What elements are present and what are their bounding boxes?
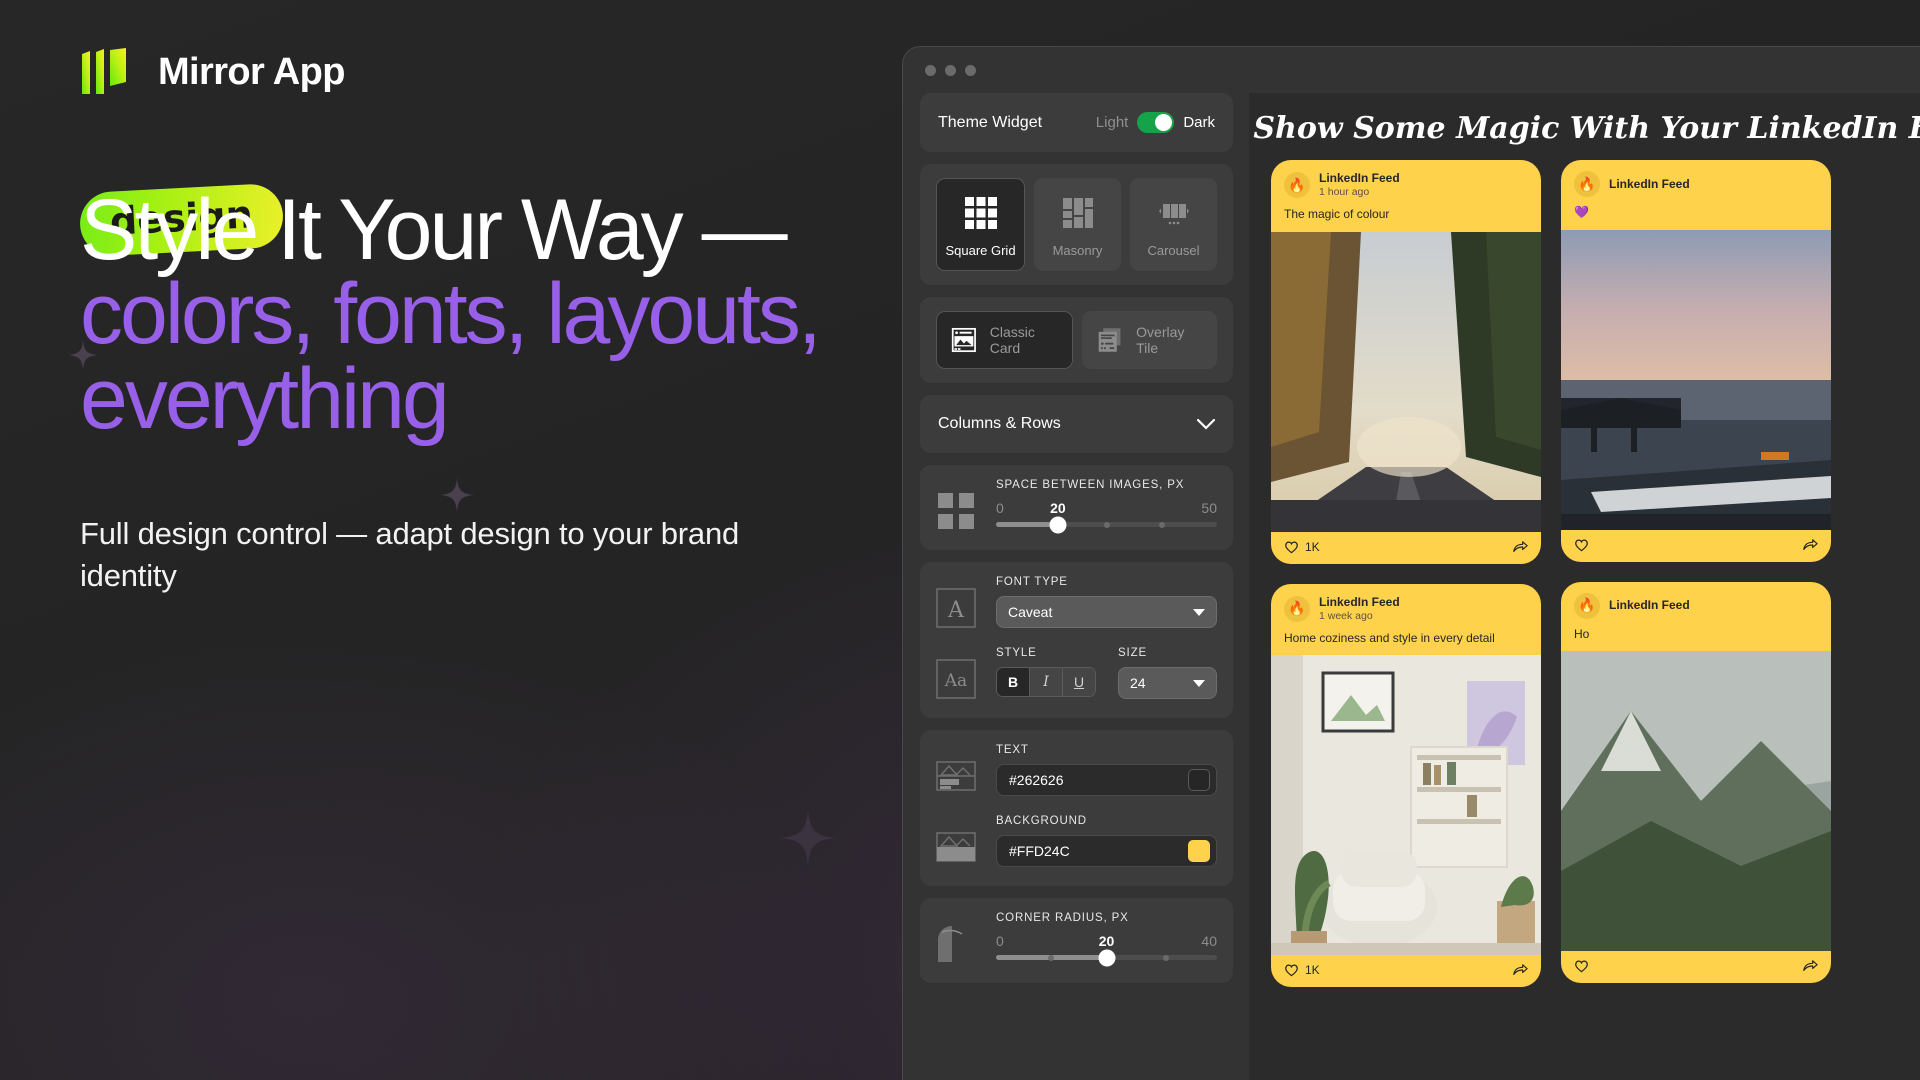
font-size-label: Size <box>1118 647 1217 659</box>
theme-toggle[interactable]: Light Dark <box>1096 112 1215 133</box>
spacing-slider[interactable] <box>996 522 1217 527</box>
text-color-field[interactable]: #262626 <box>996 764 1217 796</box>
post-source: LinkedIn Feed <box>1609 177 1690 192</box>
post-image-sunset-pier-sea <box>1561 230 1831 530</box>
carousel-icon <box>1154 193 1194 233</box>
layout-option-label: Square Grid <box>945 243 1015 258</box>
post-image-autumn-forest-road <box>1271 232 1541 532</box>
layout-option-carousel[interactable]: Carousel <box>1130 178 1217 271</box>
corner-radius-slider[interactable] <box>996 955 1217 960</box>
corner-radius-min: 0 <box>996 933 1004 949</box>
post-header: 🔥 LinkedIn Feed Ho <box>1561 582 1831 652</box>
text-color-swatch[interactable] <box>1188 769 1210 791</box>
post-likes[interactable] <box>1574 959 1595 973</box>
feed-post[interactable]: 🔥 LinkedIn Feed 💜 <box>1561 160 1831 562</box>
share-icon[interactable] <box>1512 963 1528 977</box>
font-style-label: Style <box>996 647 1096 659</box>
feed-preview: Show Some Magic With Your LinkedIn Feed … <box>1249 93 1920 1080</box>
font-type-label: Font Type <box>996 576 1217 588</box>
corner-radius-card: Corner radius, px 0 20 40 <box>920 898 1233 983</box>
font-size-select[interactable]: 24 <box>1118 667 1217 699</box>
serif-a-icon: A <box>936 576 980 633</box>
post-likes[interactable]: 1K <box>1284 540 1320 554</box>
chevron-down-icon <box>1193 609 1205 616</box>
post-header: 🔥 LinkedIn Feed 1 week ago Home coziness… <box>1271 584 1541 656</box>
spacing-tick <box>1159 522 1165 528</box>
post-footer: 1K <box>1271 955 1541 987</box>
post-footer <box>1561 951 1831 983</box>
sparkle-icon <box>780 810 836 866</box>
page-root: Mirror App design Style It Your Way — co… <box>0 0 1920 1080</box>
post-text: The magic of colour <box>1284 207 1528 223</box>
post-header: 🔥 LinkedIn Feed 💜 <box>1561 160 1831 230</box>
text-color-label: Text <box>996 744 1217 756</box>
corner-radius-icon <box>936 912 980 969</box>
spacing-grid-icon <box>936 479 980 536</box>
hero-subcopy: Full design control — adapt design to yo… <box>80 513 760 597</box>
font-control-card: A Font Type Caveat <box>920 562 1233 718</box>
post-time: 1 hour ago <box>1319 186 1400 199</box>
feed-grid: 🔥 LinkedIn Feed 1 hour ago The magic of … <box>1249 160 1920 987</box>
post-source: LinkedIn Feed <box>1319 595 1400 610</box>
feed-column: 🔥 LinkedIn Feed 1 hour ago The magic of … <box>1271 160 1541 987</box>
text-color-icon <box>936 744 980 801</box>
font-style-group[interactable]: B I U <box>996 667 1096 697</box>
heart-icon[interactable] <box>1284 540 1299 554</box>
post-text: Home coziness and style in every detail <box>1284 631 1528 647</box>
bold-button[interactable]: B <box>997 668 1030 696</box>
close-dot-icon[interactable] <box>925 65 936 76</box>
square-grid-icon <box>961 193 1001 233</box>
headline-line-1: Style It Your Way — <box>80 182 785 278</box>
background-color-swatch[interactable] <box>1188 840 1210 862</box>
font-size-value: 24 <box>1130 675 1146 691</box>
three-bars-logo-icon <box>80 48 136 96</box>
share-icon[interactable] <box>1802 959 1818 973</box>
columns-rows-accordion[interactable]: Columns & Rows <box>920 395 1233 453</box>
classic-card-icon <box>951 325 977 355</box>
theme-widget-card: Theme Widget Light Dark <box>920 93 1233 152</box>
chevron-down-icon <box>1193 680 1205 687</box>
background-color-value: #FFD24C <box>1009 843 1070 859</box>
post-footer <box>1561 530 1831 562</box>
brand-name: Mirror App <box>158 51 345 94</box>
theme-light-label[interactable]: Light <box>1096 114 1129 131</box>
post-likes[interactable]: 1K <box>1284 963 1320 977</box>
minimize-dot-icon[interactable] <box>945 65 956 76</box>
feed-post[interactable]: 🔥 LinkedIn Feed Ho <box>1561 582 1831 984</box>
window-titlebar <box>903 47 1920 93</box>
feed-post[interactable]: 🔥 LinkedIn Feed 1 week ago Home coziness… <box>1271 584 1541 988</box>
spacing-value: 20 <box>1050 500 1066 516</box>
post-source: LinkedIn Feed <box>1609 598 1690 613</box>
chevron-down-icon[interactable] <box>1197 419 1215 430</box>
window-body: Theme Widget Light Dark <box>903 93 1920 1080</box>
svg-text:Aa: Aa <box>944 671 967 691</box>
layout-option-label: Masonry <box>1053 243 1103 258</box>
card-style-label: Classic Card <box>990 324 1058 356</box>
spacing-control-card: Space between images, px 0 20 50 <box>920 465 1233 550</box>
corner-radius-label: Corner radius, px <box>996 912 1217 924</box>
background-color-field[interactable]: #FFD24C <box>996 835 1217 867</box>
flame-icon: 🔥 <box>1284 172 1310 198</box>
post-likes[interactable] <box>1574 538 1595 552</box>
italic-button[interactable]: I <box>1030 668 1063 696</box>
text-color-value: #262626 <box>1009 772 1064 788</box>
spacing-slider-thumb[interactable] <box>1049 516 1066 533</box>
headline-line-2: colors, fonts, layouts, <box>80 272 900 356</box>
corner-radius-tick <box>1048 955 1054 961</box>
background-color-label: Background <box>996 815 1217 827</box>
feed-column: 🔥 LinkedIn Feed 💜 <box>1561 160 1831 987</box>
masonry-icon <box>1058 193 1098 233</box>
corner-radius-value: 20 <box>1099 933 1115 949</box>
card-style-label: Overlay Tile <box>1136 324 1203 356</box>
post-header: 🔥 LinkedIn Feed 1 hour ago The magic of … <box>1271 160 1541 232</box>
spacing-label: Space between images, px <box>996 479 1217 491</box>
post-text: 💜 <box>1574 205 1818 221</box>
theme-dark-label[interactable]: Dark <box>1183 114 1215 131</box>
likes-count: 1K <box>1305 963 1320 977</box>
layout-option-masonry[interactable]: Masonry <box>1034 178 1121 271</box>
layout-option-label: Carousel <box>1147 243 1199 258</box>
flame-icon: 🔥 <box>1284 596 1310 622</box>
likes-count: 1K <box>1305 540 1320 554</box>
svg-text:A: A <box>947 598 965 623</box>
post-time: 1 week ago <box>1319 610 1400 623</box>
spacing-tick <box>1104 522 1110 528</box>
sparkle-icon <box>440 478 474 512</box>
maximize-dot-icon[interactable] <box>965 65 976 76</box>
flame-icon: 🔥 <box>1574 593 1600 619</box>
page-title: Style It Your Way — colors, fonts, layou… <box>80 188 900 441</box>
corner-radius-slider-thumb[interactable] <box>1098 949 1115 966</box>
spacing-min: 0 <box>996 500 1004 516</box>
post-text: Ho <box>1574 627 1818 643</box>
post-image-mountain-landscape <box>1561 651 1831 951</box>
corner-radius-max: 40 <box>1201 933 1217 949</box>
card-style-classic-card[interactable]: Classic Card <box>936 311 1073 369</box>
aa-icon: Aa <box>936 647 980 704</box>
switch-knob <box>1155 114 1172 131</box>
theme-widget-title: Theme Widget <box>938 114 1042 132</box>
preview-title: Show Some Magic With Your LinkedIn Feed <box>1249 93 1920 160</box>
theme-switch[interactable] <box>1137 112 1174 133</box>
flame-icon: 🔥 <box>1574 171 1600 197</box>
share-icon[interactable] <box>1802 538 1818 552</box>
accordion-label: Columns & Rows <box>938 415 1061 433</box>
brand-logo[interactable]: Mirror App <box>80 0 900 96</box>
heart-icon[interactable] <box>1284 963 1299 977</box>
card-style-card: Classic Card <box>920 297 1233 383</box>
heart-icon[interactable] <box>1574 538 1589 552</box>
post-footer: 1K <box>1271 532 1541 564</box>
app-window: Theme Widget Light Dark <box>902 46 1920 1080</box>
card-style-overlay-tile[interactable]: Overlay Tile <box>1082 311 1217 369</box>
spacing-max: 50 <box>1201 500 1217 516</box>
background-color-icon <box>936 815 980 872</box>
corner-radius-tick <box>1163 955 1169 961</box>
post-image-cozy-living-room <box>1271 655 1541 955</box>
font-type-value: Caveat <box>1008 604 1052 620</box>
layout-option-square-grid[interactable]: Square Grid <box>936 178 1025 271</box>
color-control-card: Text #262626 <box>920 730 1233 886</box>
settings-panel: Theme Widget Light Dark <box>903 93 1249 1080</box>
share-icon[interactable] <box>1512 540 1528 554</box>
feed-post[interactable]: 🔥 LinkedIn Feed 1 hour ago The magic of … <box>1271 160 1541 564</box>
layout-options-card: Square Grid Masonry <box>920 164 1233 285</box>
hero-section: Mirror App design Style It Your Way — co… <box>80 0 900 1080</box>
heart-icon[interactable] <box>1574 959 1589 973</box>
headline-line-3: everything <box>80 357 900 441</box>
font-type-select[interactable]: Caveat <box>996 596 1217 628</box>
post-source: LinkedIn Feed <box>1319 171 1400 186</box>
overlay-tile-icon <box>1096 325 1123 355</box>
underline-button[interactable]: U <box>1063 668 1095 696</box>
